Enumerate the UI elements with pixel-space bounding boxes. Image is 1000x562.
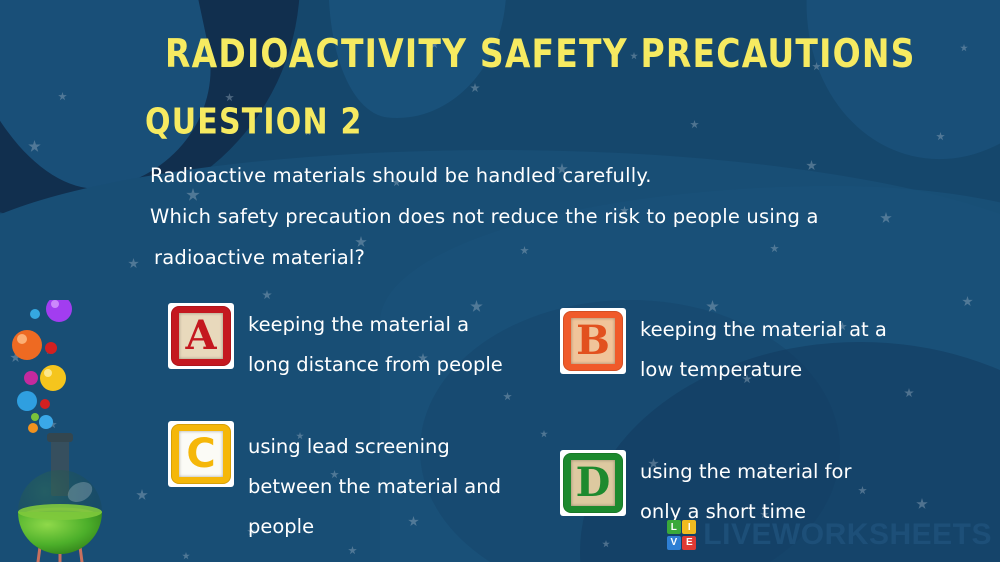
option-line: people <box>248 507 501 547</box>
slide-canvas: RADIOACTIVITY SAFETY PRECAUTIONS QUESTIO… <box>0 0 1000 562</box>
background-star-icon <box>962 296 973 307</box>
science-flask-illustration <box>0 300 120 562</box>
background-star-icon <box>225 93 234 102</box>
background-star-icon <box>916 498 928 510</box>
background-star-icon <box>904 388 914 398</box>
letter-block-a-icon[interactable]: A <box>168 303 234 369</box>
letter-block-d-icon[interactable]: D <box>560 450 626 516</box>
option-line: using lead screening <box>248 427 501 467</box>
question-label: QUESTION 2 <box>145 102 363 143</box>
background-star-icon <box>960 44 968 52</box>
question-line: Which safety precaution does not reduce … <box>150 196 910 237</box>
background-star-icon <box>348 546 357 555</box>
letter-block-c-icon[interactable]: C <box>168 421 234 487</box>
background-star-icon <box>470 83 480 93</box>
background-star-icon <box>58 92 67 101</box>
liveworksheets-logo-icon: L I V E <box>667 520 697 550</box>
background-star-icon <box>503 392 512 401</box>
option-line: keeping the material a <box>248 305 503 345</box>
answer-option-c-text: using lead screening between the materia… <box>248 421 501 547</box>
background-star-icon <box>540 430 548 438</box>
background-star-icon <box>936 132 945 141</box>
page-title: RADIOACTIVITY SAFETY PRECAUTIONS <box>165 30 916 76</box>
answer-option-c[interactable]: C using lead screening between the mater… <box>168 421 501 547</box>
option-line: keeping the material at a <box>640 310 887 350</box>
logo-tile-l: L <box>667 520 681 534</box>
block-letter-d: D <box>576 463 611 503</box>
option-line: using the material for <box>640 452 851 492</box>
background-star-icon <box>182 552 190 560</box>
answer-option-a[interactable]: A keeping the material a long distance f… <box>168 303 503 385</box>
question-line: Radioactive materials should be handled … <box>150 155 910 196</box>
logo-tile-v: V <box>667 536 681 550</box>
watermark-text: LIVEWORKSHEETS <box>703 518 992 552</box>
background-star-icon <box>262 290 272 300</box>
answer-option-b-text: keeping the material at a low temperatur… <box>640 308 887 390</box>
block-letter-c: C <box>186 434 215 474</box>
background-star-icon <box>128 258 139 269</box>
background-star-icon <box>858 486 867 495</box>
option-line: long distance from people <box>248 345 503 385</box>
block-letter-a: A <box>185 316 216 356</box>
answer-option-a-text: keeping the material a long distance fro… <box>248 303 503 385</box>
background-star-icon <box>28 140 41 153</box>
block-letter-b: B <box>576 321 610 361</box>
logo-tile-i: I <box>682 520 696 534</box>
option-line: low temperature <box>640 350 887 390</box>
background-star-icon <box>602 540 610 548</box>
letter-block-b-icon[interactable]: B <box>560 308 626 374</box>
answer-option-b[interactable]: B keeping the material at a low temperat… <box>560 308 887 390</box>
background-star-icon <box>690 120 699 129</box>
question-body: Radioactive materials should be handled … <box>150 155 910 278</box>
question-line: radioactive material? <box>154 237 910 278</box>
option-line: between the material and <box>248 467 501 507</box>
liveworksheets-watermark: L I V E LIVEWORKSHEETS <box>667 518 992 552</box>
background-star-icon <box>136 489 148 501</box>
logo-tile-e: E <box>682 536 696 550</box>
